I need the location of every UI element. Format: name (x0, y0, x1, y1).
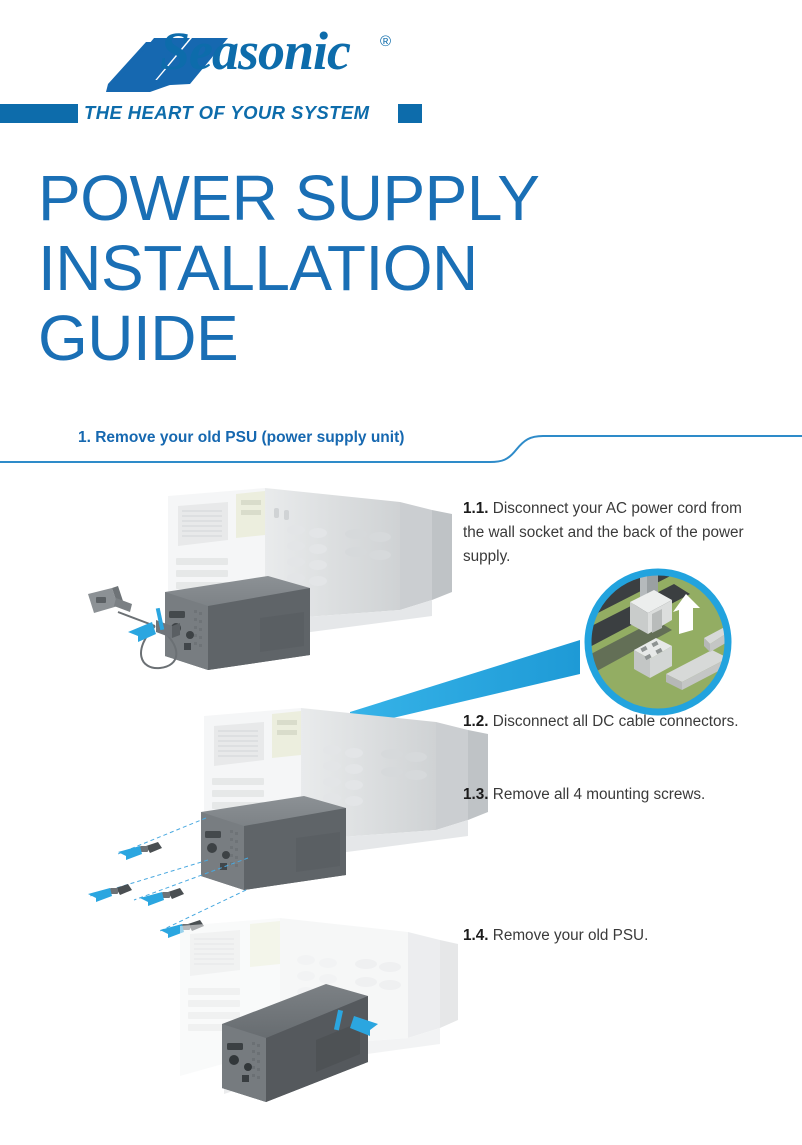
step-1-4-text: Remove your old PSU. (493, 927, 649, 944)
blue-direction-arrow (118, 846, 142, 860)
page-title-line-2: INSTALLATION (38, 233, 638, 303)
step-1-1-number: 1.1. (463, 500, 489, 517)
power-supply-unit (201, 796, 346, 890)
brand-tagline: THE HEART OF YOUR SYSTEM (84, 102, 369, 124)
blue-direction-arrow (88, 888, 112, 902)
motherboard-scene (568, 556, 738, 722)
brand-header: Seasonic ® THE HEART OF YOUR SYSTEM (0, 0, 802, 140)
figure-pc-case-mounting-screws (96, 700, 496, 915)
tagline-bar-right (398, 104, 422, 123)
page-title-line-3: GUIDE (38, 303, 638, 373)
magnifier-circle-illustration (578, 562, 738, 722)
mounting-screw (140, 842, 162, 853)
step-1-4-number: 1.4. (463, 927, 489, 944)
step-1-2: 1.2. Disconnect all DC cable connectors. (463, 710, 763, 734)
step-1-3: 1.3. Remove all 4 mounting screws. (463, 783, 763, 807)
brand-tagline-row: THE HEART OF YOUR SYSTEM (0, 102, 802, 126)
section-title: 1. Remove your old PSU (power supply uni… (78, 429, 404, 447)
pc-case-illustration-3 (140, 912, 500, 1117)
power-supply-unit (165, 576, 310, 670)
figure-psu-removal (140, 912, 500, 1117)
brand-wordmark: Seasonic (160, 24, 350, 78)
step-1-3-number: 1.3. (463, 786, 489, 803)
step-1-2-text: Disconnect all DC cable connectors. (493, 713, 739, 730)
step-1-1-text: Disconnect your AC power cord from the w… (463, 500, 744, 565)
mounting-screw (110, 884, 132, 895)
tagline-bar-left (0, 104, 78, 123)
wall-socket-plug (88, 586, 132, 613)
step-1-4: 1.4. Remove your old PSU. (463, 924, 763, 948)
page-title-line-1: POWER SUPPLY (38, 163, 638, 233)
registered-trademark-icon: ® (380, 33, 391, 50)
blue-direction-arrow (140, 892, 164, 906)
step-1-2-number: 1.2. (463, 713, 489, 730)
page-title: POWER SUPPLY INSTALLATION GUIDE (38, 163, 638, 373)
step-1-3-text: Remove all 4 mounting screws. (493, 786, 706, 803)
section-header: 1. Remove your old PSU (power supply uni… (0, 424, 802, 468)
mounting-screw (162, 888, 184, 899)
pc-case-illustration-2 (96, 700, 496, 915)
figure-motherboard-connector-callout (578, 562, 738, 722)
installation-guide-page: Seasonic ® THE HEART OF YOUR SYSTEM POWE… (0, 0, 802, 1145)
step-1-1: 1.1. Disconnect your AC power cord from … (463, 497, 763, 569)
